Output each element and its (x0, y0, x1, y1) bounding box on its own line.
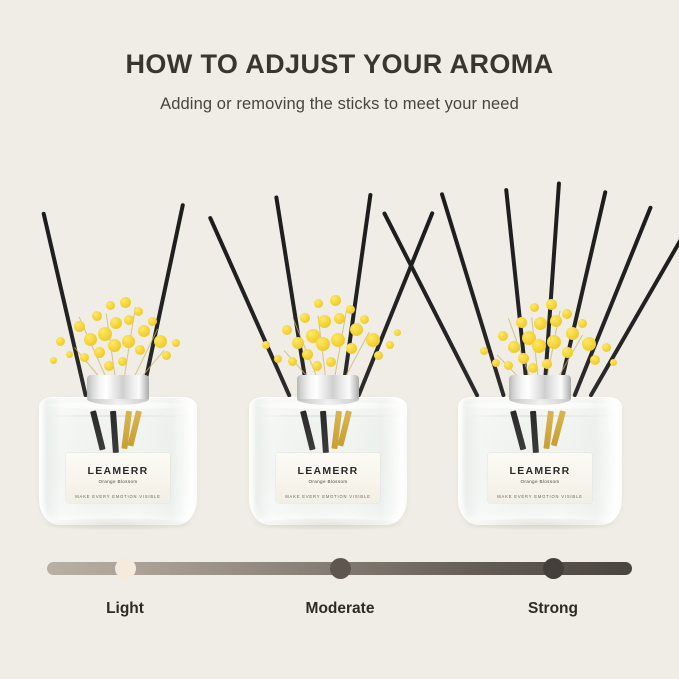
label-tagline: MAKE EVERY EMOTION VISIBLE (488, 495, 592, 499)
page-subtitle: Adding or removing the sticks to meet yo… (0, 95, 679, 114)
product-row: LEAMERR Orange Blossom MAKE EVERY EMOTIO… (0, 160, 679, 525)
reed-stick (572, 205, 653, 398)
product-label: LEAMERR Orange Blossom MAKE EVERY EMOTIO… (276, 453, 380, 503)
bottle-shadow (43, 518, 193, 530)
slider-labels: Light Moderate Strong (0, 600, 679, 624)
label-brand: LEAMERR (66, 466, 170, 477)
label-scent: Orange Blossom (66, 480, 170, 485)
product-label: LEAMERR Orange Blossom MAKE EVERY EMOTIO… (488, 453, 592, 503)
diffuser-strong: LEAMERR Orange Blossom MAKE EVERY EMOTIO… (440, 160, 640, 525)
reed-stick (504, 188, 530, 397)
label-scent: Orange Blossom (276, 480, 380, 485)
page-title: HOW TO ADJUST YOUR AROMA (0, 50, 679, 80)
label-scent: Orange Blossom (488, 480, 592, 485)
reed-stick (208, 215, 293, 398)
label-tagline: MAKE EVERY EMOTION VISIBLE (276, 495, 380, 499)
bottle-shadow (465, 518, 615, 530)
intensity-slider[interactable]: Light Moderate Strong (0, 548, 679, 638)
slider-label-light: Light (106, 600, 144, 618)
reed-stick (140, 203, 185, 398)
bottle-shadow (253, 518, 403, 530)
bottle-cap (509, 375, 571, 401)
slider-label-strong: Strong (528, 600, 578, 618)
diffuser-bottle: LEAMERR Orange Blossom MAKE EVERY EMOTIO… (39, 397, 197, 525)
bottle-cap (87, 375, 149, 401)
header: HOW TO ADJUST YOUR AROMA Adding or remov… (0, 0, 679, 114)
reed-stick (274, 195, 310, 397)
slider-dot-moderate[interactable] (330, 558, 351, 579)
diffuser-bottle: LEAMERR Orange Blossom MAKE EVERY EMOTIO… (249, 397, 407, 525)
diffuser-light: LEAMERR Orange Blossom MAKE EVERY EMOTIO… (22, 160, 214, 525)
reed-stick (556, 190, 608, 398)
slider-dot-light[interactable] (115, 558, 136, 579)
label-tagline: MAKE EVERY EMOTION VISIBLE (66, 495, 170, 499)
reed-stick (440, 192, 507, 398)
bottle-cap (297, 375, 359, 401)
slider-label-moderate: Moderate (306, 600, 375, 618)
label-brand: LEAMERR (276, 466, 380, 477)
reed-sticks-moderate (232, 157, 424, 397)
label-brand: LEAMERR (488, 466, 592, 477)
reed-sticks-light (22, 157, 214, 397)
product-label: LEAMERR Orange Blossom MAKE EVERY EMOTIO… (66, 453, 170, 503)
slider-dot-strong[interactable] (543, 558, 564, 579)
diffuser-bottle: LEAMERR Orange Blossom MAKE EVERY EMOTIO… (458, 397, 622, 525)
reed-stick (542, 181, 561, 397)
diffuser-moderate: LEAMERR Orange Blossom MAKE EVERY EMOTIO… (232, 160, 424, 525)
reed-sticks-strong (440, 157, 640, 397)
reed-stick (41, 211, 88, 397)
